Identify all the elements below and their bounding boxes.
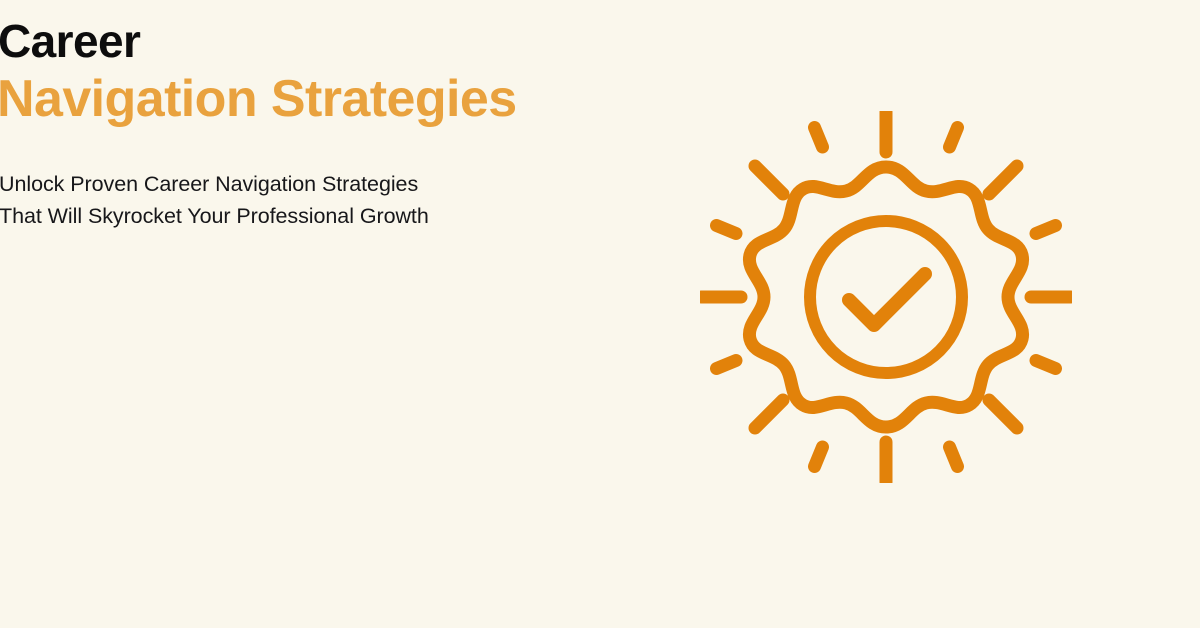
ray-long-se	[989, 400, 1017, 428]
text-block: Career Navigation Strategies Unlock Prov…	[0, 0, 690, 232]
ray-short-wnw	[717, 226, 737, 234]
banner-canvas: Career Navigation Strategies Unlock Prov…	[0, 0, 1200, 628]
ray-long-nw	[755, 166, 783, 194]
page-subtitle: Unlock Proven Career Navigation Strategi…	[0, 168, 449, 232]
ray-short-nnw	[815, 128, 823, 148]
ray-short-sse	[950, 447, 958, 467]
page-title-line-2: Navigation Strategies	[0, 70, 690, 128]
ray-short-ese	[1036, 361, 1056, 369]
check-circle-outline	[810, 221, 962, 373]
sun-badge-check-icon	[700, 111, 1072, 483]
checkmark-icon	[849, 274, 925, 325]
page-title-line-1: Career	[0, 0, 690, 68]
ray-short-wsw	[717, 361, 737, 369]
ray-long-ne	[989, 166, 1017, 194]
ray-short-ene	[1036, 226, 1056, 234]
ray-short-ssw	[815, 447, 823, 467]
page-title: Career Navigation Strategies	[0, 0, 690, 128]
wavy-badge-outline	[749, 167, 1022, 427]
ray-long-sw	[755, 400, 783, 428]
ray-short-nne	[950, 128, 958, 148]
